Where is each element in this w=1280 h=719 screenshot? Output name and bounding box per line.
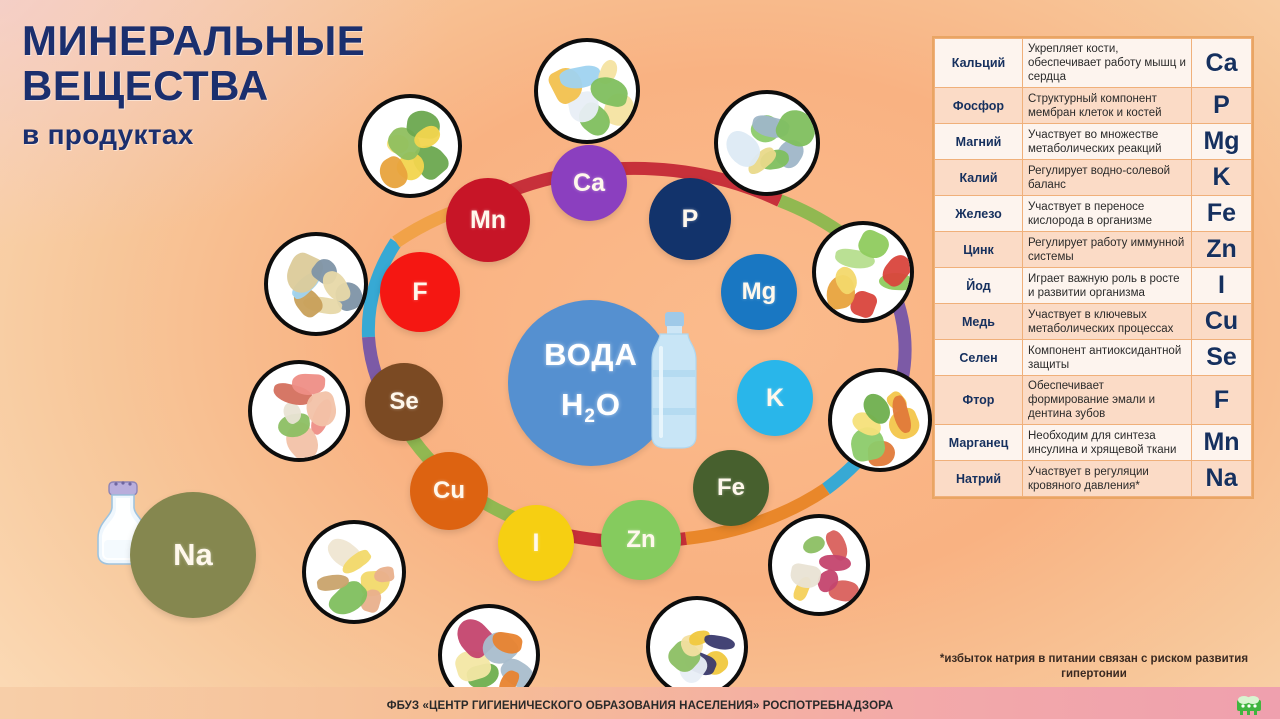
mineral-description-cell: Играет важную роль в росте и развитии ор… — [1023, 268, 1192, 304]
mineral-description-cell: Необходим для синтеза инсулина и хрящево… — [1023, 425, 1192, 461]
table-row: НатрийУчаствует в регуляции кровяного да… — [935, 461, 1252, 497]
mineral-name-cell: Железо — [935, 196, 1023, 232]
plate-meat-beetroot-egg[interactable] — [768, 514, 870, 616]
mineral-description-cell: Регулирует водно-солевой баланс — [1023, 160, 1192, 196]
table-row: МарганецНеобходим для синтеза инсулина и… — [935, 425, 1252, 461]
mineral-symbol-cell: Se — [1192, 340, 1252, 376]
table-row: КальцийУкрепляет кости, обеспечивает раб… — [935, 39, 1252, 88]
mineral-description-cell: Обеспечивает формирование эмали и дентин… — [1023, 376, 1192, 425]
mineral-symbol-cell: Mn — [1192, 425, 1252, 461]
mineral-symbol-cell: Ca — [1192, 39, 1252, 88]
table-row: МедьУчаствует в ключевых метаболических … — [935, 304, 1252, 340]
plate-cheese-chicken-peas[interactable] — [302, 520, 406, 624]
plate-fish-potato[interactable] — [264, 232, 368, 336]
mineral-name-cell: Селен — [935, 340, 1023, 376]
mineral-name-cell: Медь — [935, 304, 1023, 340]
mineral-name-cell: Магний — [935, 124, 1023, 160]
food-item — [703, 634, 735, 652]
mineral-bubble-label: K — [766, 384, 784, 413]
table-row: ФосфорСтруктурный компонент мембран клет… — [935, 88, 1252, 124]
mineral-bubble-label: Mg — [742, 278, 777, 306]
water-bottle-icon — [648, 312, 700, 450]
table-row: ЦинкРегулирует работу иммунной системыZn — [935, 232, 1252, 268]
table-row: СеленКомпонент антиоксидантной защитыSe — [935, 340, 1252, 376]
mineral-symbol-cell: Cu — [1192, 304, 1252, 340]
mineral-bubble-label: Zn — [626, 526, 655, 554]
mineral-symbol-cell: I — [1192, 268, 1252, 304]
mineral-description-cell: Участвует в переносе кислорода в организ… — [1023, 196, 1192, 232]
footer-text: ФБУЗ «ЦЕНТР ГИГИЕНИЧЕСКОГО ОБРАЗОВАНИЯ Н… — [0, 700, 1280, 712]
mineral-description-cell: Регулирует работу иммунной системы — [1023, 232, 1192, 268]
mineral-name-cell: Фосфор — [935, 88, 1023, 124]
mineral-symbol-cell: Mg — [1192, 124, 1252, 160]
mineral-description-cell: Укрепляет кости, обеспечивает работу мыш… — [1023, 39, 1192, 88]
plate-salmon-shrimp[interactable] — [248, 360, 350, 462]
mineral-bubble-label: Se — [389, 388, 418, 416]
mineral-symbol-cell: Na — [1192, 461, 1252, 497]
table-row: МагнийУчаствует во множестве метаболичес… — [935, 124, 1252, 160]
food-item — [773, 105, 820, 152]
mineral-name-cell: Йод — [935, 268, 1023, 304]
mineral-bubble-p[interactable]: P — [649, 178, 731, 260]
plate-cabbage-tomato[interactable] — [812, 221, 914, 323]
mineral-bubble-label: F — [412, 278, 427, 307]
mineral-bubble-cu[interactable]: Cu — [410, 452, 488, 530]
mineral-bubble-label: Ca — [573, 169, 605, 198]
mineral-bubble-label: Na — [173, 537, 213, 573]
water-formula: H2O — [561, 387, 621, 428]
mineral-name-cell: Фтор — [935, 376, 1023, 425]
food-item — [801, 532, 828, 558]
table-row: ЖелезоУчаствует в переносе кислорода в о… — [935, 196, 1252, 232]
plate-fruits-avocado[interactable] — [828, 368, 932, 472]
mineral-symbol-cell: K — [1192, 160, 1252, 196]
title-line-2: ВЕЩЕСТВА — [22, 63, 365, 108]
mineral-name-cell: Натрий — [935, 461, 1023, 497]
mineral-description-cell: Участвует во множестве метаболических ре… — [1023, 124, 1192, 160]
mineral-bubble-mg[interactable]: Mg — [721, 254, 797, 330]
mineral-description-cell: Компонент антиоксидантной защиты — [1023, 340, 1192, 376]
green-emblem-icon — [1234, 694, 1264, 716]
mineral-name-cell: Калий — [935, 160, 1023, 196]
title-subtitle: в продуктах — [22, 119, 365, 151]
minerals-table: КальцийУкрепляет кости, обеспечивает раб… — [932, 36, 1254, 499]
food-item — [819, 555, 852, 573]
mineral-name-cell: Марганец — [935, 425, 1023, 461]
mineral-description-cell: Участвует в регуляции кровяного давления… — [1023, 461, 1192, 497]
mineral-symbol-cell: P — [1192, 88, 1252, 124]
mineral-bubble-i[interactable]: I — [498, 505, 574, 581]
page-title: МИНЕРАЛЬНЫЕ ВЕЩЕСТВА в продуктах — [22, 18, 365, 151]
mineral-bubble-label: I — [533, 529, 540, 558]
table-row: КалийРегулирует водно-солевой балансK — [935, 160, 1252, 196]
plate-fish-kiwi-milk[interactable] — [714, 90, 820, 196]
mineral-symbol-cell: Zn — [1192, 232, 1252, 268]
title-line-1: МИНЕРАЛЬНЫЕ — [22, 18, 365, 63]
mineral-description-cell: Структурный компонент мембран клеток и к… — [1023, 88, 1192, 124]
mineral-symbol-cell: F — [1192, 376, 1252, 425]
mineral-bubble-k[interactable]: K — [737, 360, 813, 436]
infographic-poster: МИНЕРАЛЬНЫЕ ВЕЩЕСТВА в продуктах — [0, 0, 1280, 719]
table-row: ФторОбеспечивает формирование эмали и де… — [935, 376, 1252, 425]
mineral-bubble-label: P — [682, 205, 699, 234]
mineral-bubble-mn[interactable]: Mn — [446, 178, 530, 262]
plate-dairy-cheese-greens[interactable] — [534, 38, 640, 144]
mineral-bubble-fe[interactable]: Fe — [693, 450, 769, 526]
mineral-bubble-na[interactable]: Na — [130, 492, 256, 618]
mineral-name-cell: Цинк — [935, 232, 1023, 268]
table-row: ЙодИграет важную роль в росте и развитии… — [935, 268, 1252, 304]
mineral-symbol-cell: Fe — [1192, 196, 1252, 232]
mineral-bubble-se[interactable]: Se — [365, 363, 443, 441]
plate-sunflower-berries-milk[interactable] — [646, 596, 748, 698]
mineral-bubble-ca[interactable]: Ca — [551, 145, 627, 221]
mineral-bubble-label: Cu — [433, 477, 465, 505]
table-footnote: *избыток натрия в питании связан с риско… — [934, 652, 1254, 682]
mineral-bubble-label: Mn — [470, 206, 506, 235]
mineral-description-cell: Участвует в ключевых метаболических проц… — [1023, 304, 1192, 340]
mineral-bubble-label: Fe — [717, 474, 745, 502]
food-item — [373, 566, 395, 583]
mineral-bubble-f[interactable]: F — [380, 252, 460, 332]
mineral-name-cell: Кальций — [935, 39, 1023, 88]
mineral-bubble-zn[interactable]: Zn — [601, 500, 681, 580]
water-label: ВОДА — [544, 337, 638, 373]
plate-vegetables-bananas[interactable] — [358, 94, 462, 198]
